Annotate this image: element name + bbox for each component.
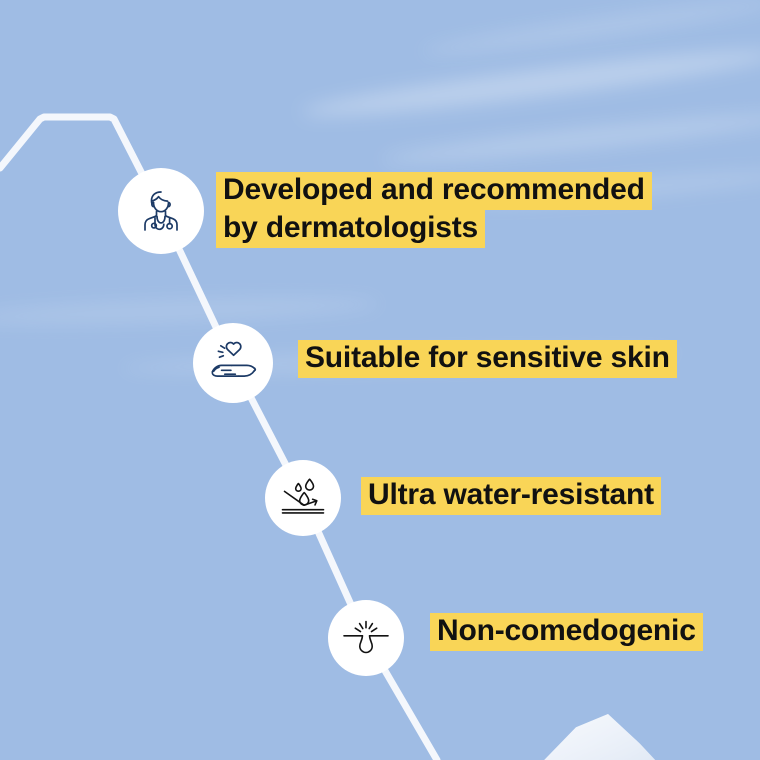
benefit-label-dermatologist: Developed and recommended by dermatologi… — [216, 172, 652, 248]
benefit-label-non-comedogenic: Non-comedogenic — [430, 613, 703, 651]
doctor-stethoscope-icon — [135, 185, 187, 237]
benefit-label-line: Non-comedogenic — [430, 613, 703, 651]
benefit-bubble-sensitive-skin[interactable] — [193, 323, 273, 403]
hand-heart-icon — [208, 338, 258, 388]
benefit-label-line: Developed and recommended — [216, 172, 652, 210]
benefit-bubble-dermatologist[interactable] — [118, 168, 204, 254]
benefit-label-line: by dermatologists — [216, 210, 485, 248]
infographic-canvas: Developed and recommended by dermatologi… — [0, 0, 760, 760]
benefit-label-line: Suitable for sensitive skin — [298, 340, 677, 378]
benefit-label-line: Ultra water-resistant — [361, 477, 661, 515]
benefit-label-water-resistant: Ultra water-resistant — [361, 477, 661, 515]
benefit-label-sensitive-skin: Suitable for sensitive skin — [298, 340, 677, 378]
water-droplets-repellent-icon — [278, 473, 328, 523]
skin-pore-follicle-icon — [341, 613, 391, 663]
benefit-bubble-non-comedogenic[interactable] — [328, 600, 404, 676]
benefit-bubble-water-resistant[interactable] — [265, 460, 341, 536]
